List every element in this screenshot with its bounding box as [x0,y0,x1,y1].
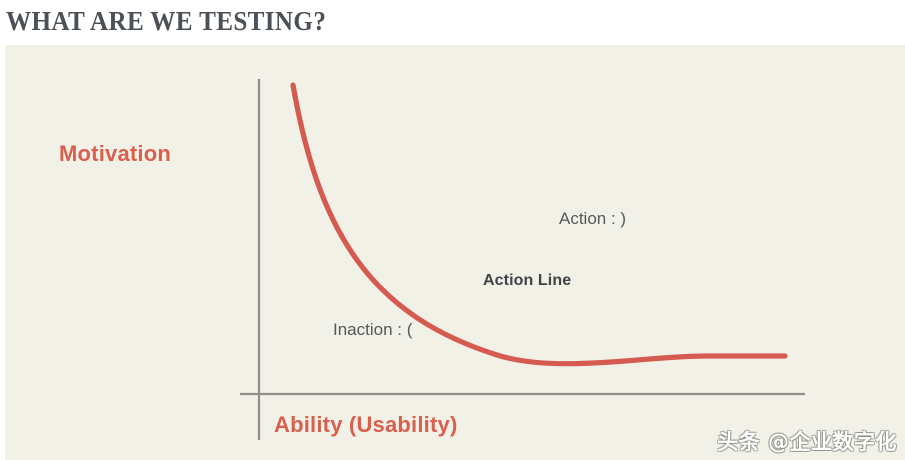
title-bar: WHAT ARE WE TESTING? [0,0,905,44]
annotation-action-line: Action Line [483,272,571,290]
action-line-chart [5,45,905,460]
annotation-inaction: Inaction : ( [333,320,412,340]
watermark: 头条 @企业数字化 [717,426,897,456]
x-axis-title: Ability (Usability) [274,412,458,438]
chart-panel: Motivation Ability (Usability) Action : … [5,45,905,460]
annotation-action: Action : ) [559,209,626,229]
slide-root: WHAT ARE WE TESTING? Motivation Ability … [0,0,905,460]
y-axis-title: Motivation [59,141,171,167]
page-title: WHAT ARE WE TESTING? [6,4,326,38]
